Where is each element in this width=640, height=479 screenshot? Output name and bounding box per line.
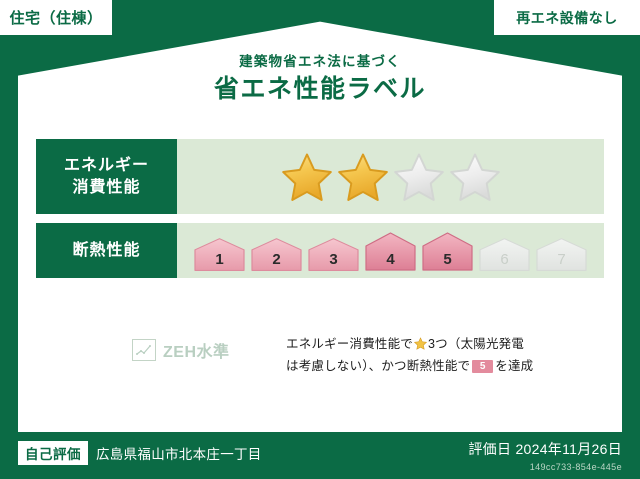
note-part1: エネルギー消費性能で — [286, 337, 413, 351]
zeh-label: ZEH水準 — [163, 338, 230, 362]
insulation-grade-2: 2 — [249, 237, 304, 273]
evaluation-date: 評価日 2024年11月26日 — [468, 439, 622, 459]
achievement-note: ZEH水準 エネルギー消費性能で3つ（太陽光発電は考慮しない）、かつ断熱性能で5… — [36, 330, 604, 378]
energy-label-line2: 消費性能 — [72, 179, 140, 196]
label-footer: 自己評価 広島県福山市北本庄一丁目 評価日 2024年11月26日 149cc7… — [0, 432, 640, 479]
label-uid: 149cc733-854e-445e — [468, 462, 622, 472]
chart-up-icon — [132, 339, 156, 361]
renewable-energy-tag: 再エネ設備なし — [494, 0, 640, 35]
energy-performance-label: 住宅（住棟） 再エネ設備なし 建築物省エネ法に基づく 省エネ性能ラベル エネルギ… — [0, 0, 640, 479]
grade-value: 3 — [329, 251, 337, 273]
insulation-grade-3: 3 — [306, 237, 361, 273]
grade-value: 6 — [500, 251, 508, 273]
note-text: エネルギー消費性能で3つ（太陽光発電は考慮しない）、かつ断熱性能で5を達成 — [252, 330, 604, 378]
insulation-rating-body: 1234567 — [177, 223, 604, 278]
star-filled-icon — [281, 151, 333, 203]
self-evaluation-badge: 自己評価 — [18, 441, 88, 465]
energy-consumption-row: エネルギー 消費性能 — [36, 139, 604, 214]
star-rating — [281, 151, 501, 203]
insulation-label: 断熱性能 — [36, 223, 177, 278]
footer-right: 評価日 2024年11月26日 149cc733-854e-445e — [468, 439, 622, 472]
property-address: 広島県福山市北本庄一丁目 — [96, 443, 262, 463]
grade-value: 7 — [557, 251, 565, 273]
grade-value: 1 — [215, 251, 223, 273]
title-subtitle: 建築物省エネ法に基づく — [0, 55, 640, 70]
page-title: 省エネ性能ラベル — [0, 76, 640, 104]
performance-rows: エネルギー 消費性能 断熱性能 1234567 — [36, 139, 604, 278]
insulation-grade-5: 5 — [420, 231, 475, 273]
insulation-grade-scale: 1234567 — [192, 229, 589, 273]
insulation-grade-4: 4 — [363, 231, 418, 273]
energy-rating-body — [177, 139, 604, 214]
insulation-row: 断熱性能 1234567 — [36, 223, 604, 278]
insulation-grade-7: 7 — [534, 237, 589, 273]
grade-value: 4 — [386, 251, 394, 273]
star-filled-icon — [337, 151, 389, 203]
building-type-tag: 住宅（住棟） — [0, 0, 112, 35]
inline-star-icon — [414, 336, 427, 349]
energy-label-line1: エネルギー — [64, 157, 149, 174]
title-block: 建築物省エネ法に基づく 省エネ性能ラベル — [0, 55, 640, 103]
grade-value: 5 — [443, 251, 451, 273]
insulation-grade-1: 1 — [192, 237, 247, 273]
star-empty-icon — [449, 151, 501, 203]
note-part3: は考慮しない）、かつ断熱性能で — [286, 359, 470, 373]
note-part2: 3つ（太陽光発電 — [428, 337, 524, 351]
note-part4: を達成 — [495, 359, 533, 373]
footer-left: 自己評価 広島県福山市北本庄一丁目 — [18, 441, 262, 465]
grade-value: 2 — [272, 251, 280, 273]
note-grade-chip: 5 — [472, 360, 493, 373]
energy-consumption-label: エネルギー 消費性能 — [36, 139, 177, 214]
insulation-grade-6: 6 — [477, 237, 532, 273]
star-empty-icon — [393, 151, 445, 203]
zeh-standard-marker: ZEH水準 — [36, 330, 252, 362]
